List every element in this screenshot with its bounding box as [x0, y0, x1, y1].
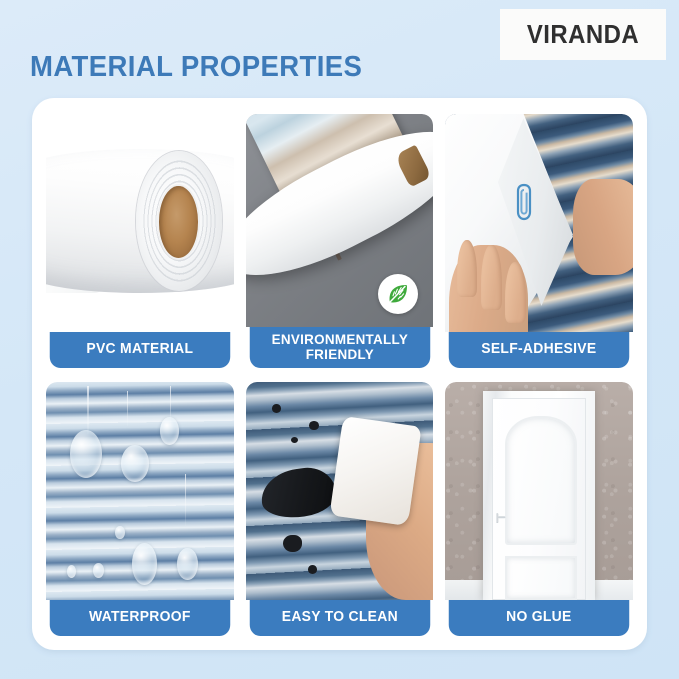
finger	[457, 240, 478, 297]
water-streak	[185, 474, 187, 526]
features-grid: PVC MATERIAL	[46, 114, 633, 636]
water-droplet	[115, 526, 124, 539]
infographic-page: VIRANDA MATERIAL PROPERTIES PVC MATERIAL	[0, 0, 679, 679]
water-droplet	[70, 430, 102, 478]
baseboard	[592, 580, 633, 600]
door-frame	[483, 391, 596, 600]
stain-spot	[283, 535, 302, 552]
brand-logo: VIRANDA	[500, 9, 666, 60]
finger	[481, 245, 502, 310]
easy-to-clean-photo	[246, 382, 434, 600]
water-streak	[127, 391, 129, 426]
feature-card-self-adhesive: SELF-ADHESIVE	[445, 114, 633, 368]
door-slab	[492, 398, 587, 600]
feature-card-waterproof: WATERPROOF	[46, 382, 234, 636]
brand-name: VIRANDA	[527, 19, 639, 50]
features-panel: PVC MATERIAL	[32, 98, 647, 650]
self-adhesive-photo	[445, 114, 633, 332]
feature-label-environmentally-friendly: ENVIRONMENTALLY FRIENDLY	[249, 327, 429, 368]
stain-spot	[291, 437, 299, 444]
feature-label-waterproof: WATERPROOF	[50, 600, 230, 636]
feature-card-environmentally-friendly: ENVIRONMENTALLY FRIENDLY	[246, 114, 434, 368]
feature-label-pvc-material: PVC MATERIAL	[50, 332, 230, 368]
feature-card-no-glue: NO GLUE	[445, 382, 633, 636]
label-line-2: FRIENDLY	[305, 346, 373, 362]
stain-spot	[308, 565, 317, 574]
door-panel-lower	[505, 556, 577, 600]
waterproof-photo	[46, 382, 234, 600]
feature-card-pvc-material: PVC MATERIAL	[46, 114, 234, 368]
environmentally-friendly-photo	[246, 114, 434, 327]
right-hand	[573, 179, 633, 275]
stain-spot	[272, 404, 281, 413]
stain-spot	[309, 421, 318, 430]
paperclip-icon	[513, 179, 535, 225]
feature-card-easy-to-clean: EASY TO CLEAN	[246, 382, 434, 636]
door-panel-upper	[505, 416, 577, 545]
water-droplet	[67, 565, 76, 578]
water-droplet	[177, 548, 198, 581]
cardboard-core	[159, 186, 198, 258]
water-droplet	[132, 543, 156, 584]
feature-label-easy-to-clean: EASY TO CLEAN	[249, 600, 429, 636]
feature-label-no-glue: NO GLUE	[449, 600, 629, 636]
cleaning-cloth	[329, 416, 421, 526]
finger	[505, 262, 526, 323]
door-handle-icon	[495, 507, 507, 529]
water-streak	[87, 386, 89, 434]
page-title: MATERIAL PROPERTIES	[30, 51, 362, 84]
feature-label-self-adhesive: SELF-ADHESIVE	[449, 332, 629, 368]
no-glue-photo	[445, 382, 633, 600]
leaf-icon	[385, 281, 411, 307]
label-line-1: ENVIRONMENTALLY	[271, 331, 408, 347]
pvc-material-photo	[46, 114, 234, 332]
